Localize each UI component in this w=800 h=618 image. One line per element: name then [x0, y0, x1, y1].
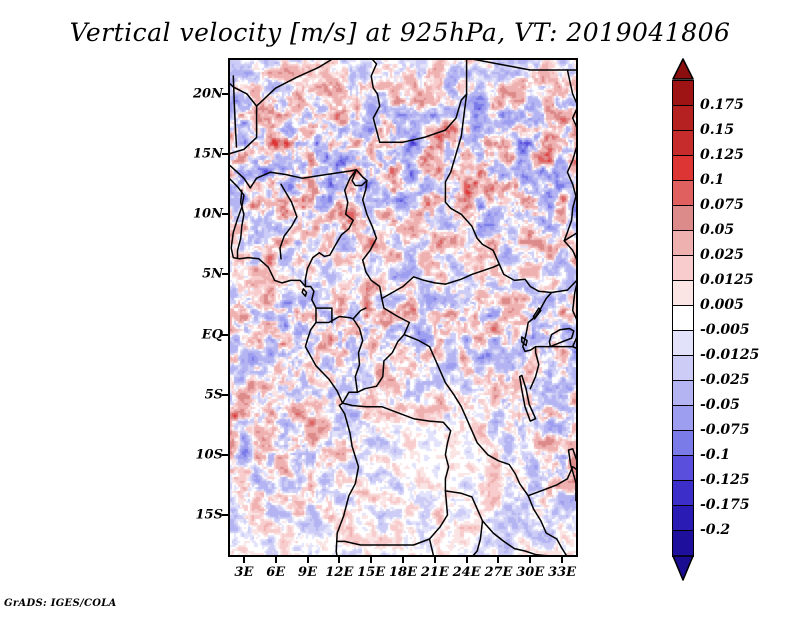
page-title: Vertical velocity [m/s] at 925hPa, VT: 2…: [0, 18, 800, 47]
colorbar-label: 0.005: [700, 297, 744, 313]
colorbar-label: 0.05: [700, 222, 734, 238]
x-axis-label: 21E: [421, 565, 449, 580]
x-axis-label: 15E: [357, 565, 385, 580]
y-axis-tick: [222, 93, 228, 95]
colorbar-swatch: [672, 380, 694, 407]
x-axis-tick: [561, 557, 563, 563]
x-axis-tick: [402, 557, 404, 563]
colorbar-label: 0.125: [700, 147, 744, 163]
border-line: [528, 467, 578, 496]
x-axis-tick: [529, 557, 531, 563]
border-line: [334, 58, 380, 142]
border-line: [316, 317, 353, 323]
border-line: [430, 539, 434, 557]
colorbar-label: 0.15: [700, 122, 734, 138]
y-axis-label: 10N: [185, 207, 223, 222]
colorbar-swatch: [672, 105, 694, 132]
colorbar-cap-bottom: [672, 555, 694, 577]
colorbar-swatch: [672, 355, 694, 382]
colorbar-label: -0.05: [700, 397, 740, 413]
country-borders-overlay: [228, 58, 578, 557]
colorbar-label: 0.075: [700, 197, 744, 213]
border-line: [404, 335, 528, 496]
border-line: [573, 279, 578, 349]
border-line: [353, 308, 366, 392]
border-line: [467, 58, 578, 70]
x-axis-label: 3E: [234, 565, 253, 580]
border-line: [564, 142, 578, 279]
x-axis-label: 30E: [516, 565, 544, 580]
colorbar-label: 0.025: [700, 247, 744, 263]
colorbar-swatch: [672, 255, 694, 282]
border-line: [445, 94, 538, 291]
y-axis-label: EQ: [185, 327, 223, 342]
x-axis-tick: [434, 557, 436, 563]
y-axis-tick: [222, 213, 228, 215]
colorbar-swatch: [672, 530, 694, 557]
border-line: [337, 491, 447, 545]
border-line: [569, 449, 579, 503]
colorbar-cap-top: [672, 58, 694, 80]
border-line: [228, 82, 257, 154]
x-axis-label: 24E: [453, 565, 481, 580]
border-line: [229, 178, 358, 557]
border-line: [305, 170, 356, 287]
x-axis-tick: [275, 557, 277, 563]
colorbar-swatch: [672, 505, 694, 532]
border-line: [530, 347, 578, 389]
x-axis-tick: [338, 557, 340, 563]
border-line: [567, 70, 578, 142]
colorbar: 0.1750.150.1250.10.0750.050.0250.01250.0…: [666, 58, 796, 558]
colorbar-swatch: [672, 155, 694, 182]
border-line: [228, 202, 229, 260]
y-axis-tick: [222, 394, 228, 396]
colorbar-swatch: [672, 480, 694, 507]
y-axis-label: 10S: [185, 447, 223, 462]
colorbar-swatch: [672, 305, 694, 332]
colorbar-swatch: [672, 455, 694, 482]
colorbar-label: -0.005: [700, 322, 750, 338]
colorbar-swatch: [672, 180, 694, 207]
x-axis-tick: [243, 557, 245, 563]
border-line: [549, 329, 573, 347]
colorbar-swatch: [672, 430, 694, 457]
y-axis-tick: [222, 334, 228, 336]
colorbar-swatch: [672, 130, 694, 157]
map-plot-area: [228, 58, 578, 557]
x-axis-tick: [370, 557, 372, 563]
colorbar-label: -0.075: [700, 422, 750, 438]
colorbar-label: 0.1: [700, 172, 724, 188]
colorbar-swatch: [672, 205, 694, 232]
colorbar-label: -0.025: [700, 372, 750, 388]
x-axis-tick: [466, 557, 468, 563]
colorbar-label: -0.0125: [700, 347, 759, 363]
x-axis-label: 6E: [266, 565, 285, 580]
colorbar-label: -0.175: [700, 497, 750, 513]
border-line: [380, 58, 467, 142]
border-line: [302, 289, 306, 296]
y-axis-label: 5S: [185, 387, 223, 402]
y-axis-label: 15N: [185, 147, 223, 162]
colorbar-swatch: [672, 230, 694, 257]
y-axis-tick: [222, 273, 228, 275]
x-axis-label: 12E: [325, 565, 353, 580]
vertical-velocity-field: [228, 58, 578, 557]
border-line: [228, 164, 356, 188]
border-line: [316, 308, 332, 322]
colorbar-label: -0.125: [700, 472, 750, 488]
y-axis-label: 15S: [185, 507, 223, 522]
y-axis-tick: [222, 514, 228, 516]
x-axis-label: 9E: [298, 565, 317, 580]
y-axis-tick: [222, 153, 228, 155]
colorbar-label: -0.1: [700, 447, 730, 463]
y-axis-label: 20N: [185, 87, 223, 102]
colorbar-label: 0.0125: [700, 272, 754, 288]
colorbar-swatch: [672, 405, 694, 432]
x-axis-tick: [307, 557, 309, 563]
x-axis-label: 18E: [389, 565, 417, 580]
border-line: [343, 403, 451, 491]
border-line: [472, 521, 483, 557]
x-axis-tick: [497, 557, 499, 563]
colorbar-label: 0.175: [700, 97, 744, 113]
y-axis-tick: [222, 454, 228, 456]
colorbar-swatch: [672, 330, 694, 357]
border-line: [382, 265, 499, 299]
border-line: [539, 279, 578, 292]
y-axis-label: 5N: [185, 267, 223, 282]
colorbar-swatch: [672, 280, 694, 307]
x-axis-label: 33E: [548, 565, 576, 580]
border-line: [528, 496, 567, 557]
grads-credit: GrADS: IGES/COLA: [4, 598, 117, 609]
colorbar-swatch: [672, 80, 694, 107]
colorbar-label: -0.2: [700, 522, 730, 538]
border-line: [343, 181, 410, 404]
border-line: [257, 58, 335, 106]
border-line: [280, 184, 297, 258]
x-axis-label: 27E: [484, 565, 512, 580]
